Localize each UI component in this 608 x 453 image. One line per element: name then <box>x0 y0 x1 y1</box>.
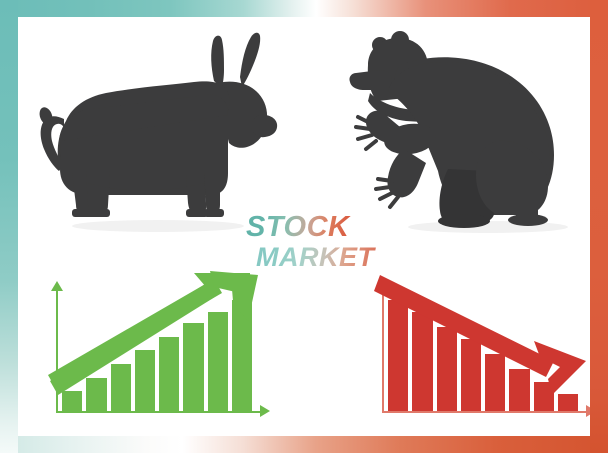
bull-y-axis <box>56 289 58 413</box>
bear-chart-plot <box>356 275 596 427</box>
bar <box>86 378 106 411</box>
bar <box>437 327 457 411</box>
bar <box>509 369 529 411</box>
bar <box>412 312 432 411</box>
bar <box>159 337 179 411</box>
poster-content: STOCK MARKET <box>18 17 590 436</box>
bar <box>558 394 578 411</box>
bear-silhouette <box>348 21 588 236</box>
bar <box>183 323 203 411</box>
bar <box>62 391 82 411</box>
bear-bar-group <box>388 289 578 411</box>
bull-bar-group <box>62 289 252 411</box>
frame-left-band <box>0 0 18 453</box>
bull-x-axis-arrow-icon <box>260 405 270 417</box>
title-market: MARKET <box>240 244 390 271</box>
frame-top-band <box>0 0 608 17</box>
bear-x-axis-arrow-icon <box>586 405 596 417</box>
bull-silhouette <box>28 23 288 233</box>
bull-chart-label: BULL MARKET <box>30 438 286 450</box>
poster-title: STOCK MARKET <box>240 213 390 283</box>
bear-x-axis <box>382 411 588 413</box>
bull-x-axis <box>56 411 262 413</box>
bar <box>232 300 252 411</box>
bear-market-chart: BEAR MARKET <box>356 275 596 450</box>
title-stock: STOCK <box>240 213 390 242</box>
bull-chart-plot <box>30 275 270 427</box>
bar <box>208 312 228 411</box>
bar <box>111 364 131 411</box>
bar <box>135 350 155 411</box>
bull-market-chart: BULL MARKET <box>30 275 270 450</box>
bar <box>534 382 554 411</box>
bear-y-axis <box>382 289 384 413</box>
bear-chart-label: BEAR MARKET <box>356 438 608 450</box>
bar <box>461 339 481 411</box>
bar <box>388 300 408 411</box>
bar <box>485 354 505 411</box>
poster-canvas: STOCK MARKET <box>0 0 608 453</box>
